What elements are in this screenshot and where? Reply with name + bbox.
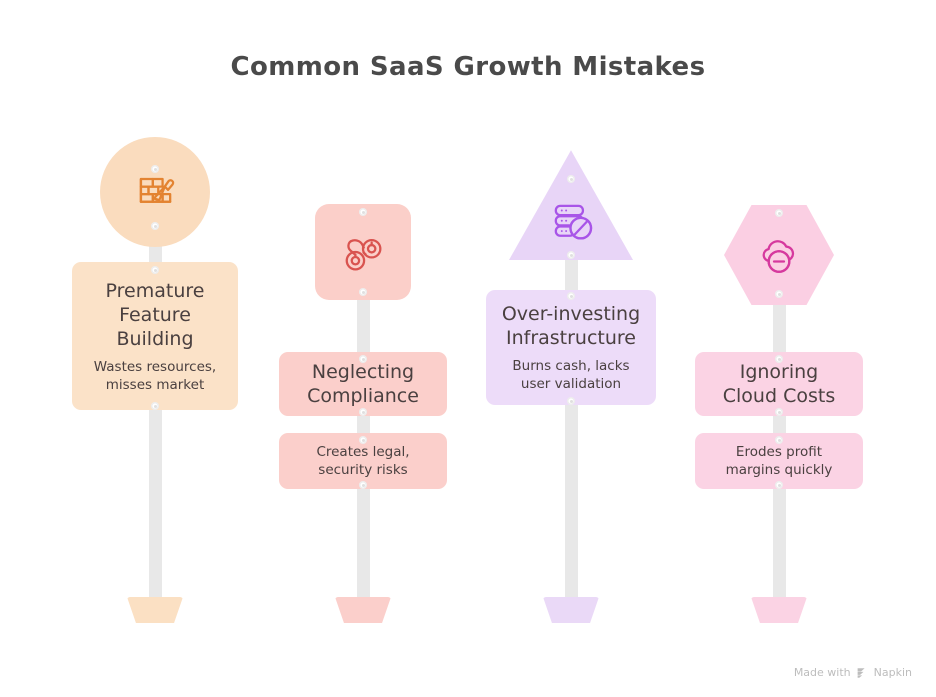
sign-subtitle: Creates legal, security risks	[316, 443, 409, 479]
sign-subtitle: Wastes resources, misses market	[94, 358, 216, 394]
brick-wall-trowel-icon	[129, 166, 181, 218]
screw-icon	[151, 222, 159, 230]
screw-icon	[359, 436, 367, 444]
screw-icon	[775, 290, 783, 298]
sign-title: Ignoring Cloud Costs	[723, 360, 835, 408]
screw-icon	[775, 209, 783, 217]
footer-made-with-label: Made with	[794, 666, 851, 679]
screw-icon	[359, 355, 367, 363]
sign-title: Neglecting Compliance	[307, 360, 419, 408]
screw-icon	[775, 408, 783, 416]
screw-icon	[359, 408, 367, 416]
screw-icon	[775, 355, 783, 363]
screw-icon	[359, 481, 367, 489]
handcuffs-icon	[337, 226, 389, 278]
screw-icon	[567, 251, 575, 259]
sign-panel-main: Premature Feature Building Wastes resour…	[72, 262, 238, 410]
sign-base	[751, 597, 807, 623]
cloud-minus-icon	[753, 229, 805, 281]
screw-icon	[359, 208, 367, 216]
sign-title: Premature Feature Building	[106, 279, 205, 351]
screw-icon	[359, 288, 367, 296]
footer-brand-label: Napkin	[874, 666, 912, 679]
screw-icon	[151, 165, 159, 173]
server-blocked-icon	[545, 194, 597, 246]
sign-subtitle: Erodes profit margins quickly	[726, 443, 833, 479]
sign-subtitle: Burns cash, lacks user validation	[512, 357, 629, 393]
sign-base	[335, 597, 391, 623]
sign-title: Over-investing Infrastructure	[502, 302, 640, 350]
infographic-canvas: Common SaaS Growth Mistakes	[0, 0, 936, 697]
screw-icon	[567, 397, 575, 405]
icon-holder-triangle	[509, 148, 633, 260]
screw-icon	[567, 292, 575, 300]
screw-icon	[775, 481, 783, 489]
page-title: Common SaaS Growth Mistakes	[0, 52, 936, 82]
sign-base	[127, 597, 183, 623]
icon-holder-square	[315, 204, 411, 300]
made-with-napkin-footer: Made with Napkin	[794, 666, 912, 679]
screw-icon	[775, 436, 783, 444]
icon-holder-circle	[100, 137, 210, 247]
sign-panel-main: Over-investing Infrastructure Burns cash…	[486, 290, 656, 405]
screw-icon	[151, 266, 159, 274]
sign-base	[543, 597, 599, 623]
napkin-logo-icon	[856, 667, 869, 679]
screw-icon	[567, 175, 575, 183]
screw-icon	[151, 402, 159, 410]
